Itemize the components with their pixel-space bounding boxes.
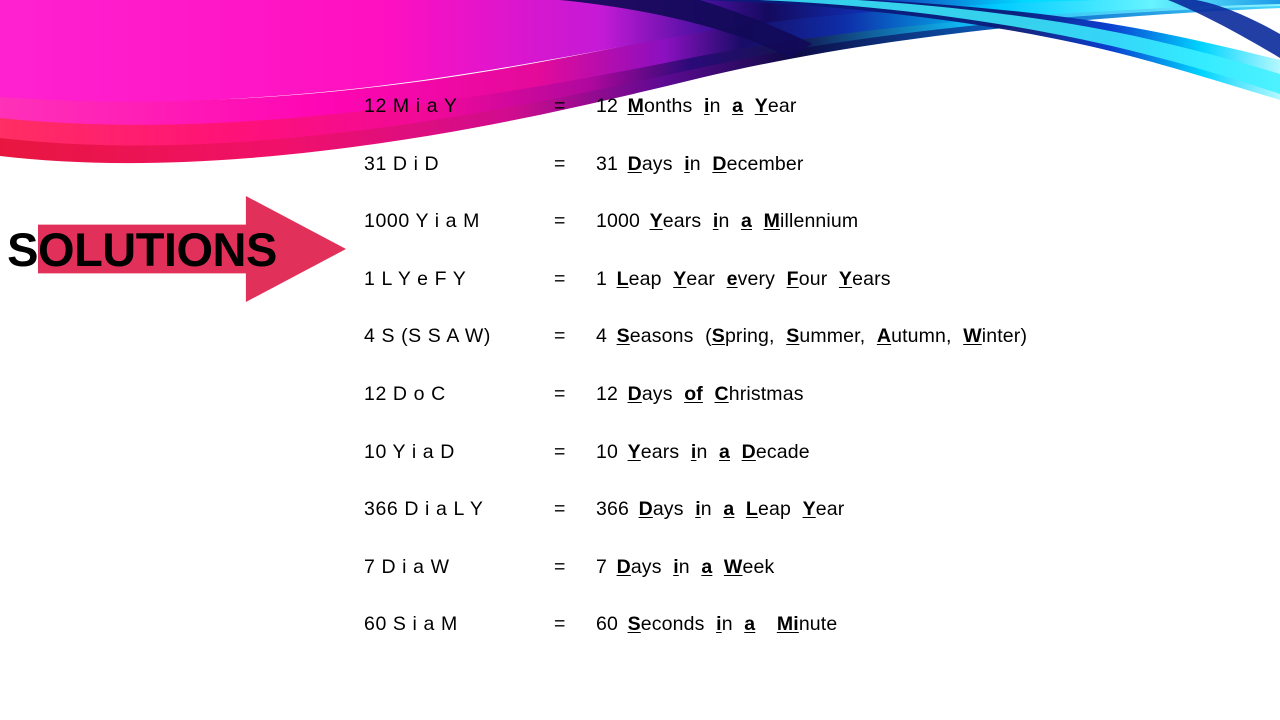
solutions-list: 12 M i a Y=12 Months in a Year 31 D i D=… [364,91,1244,667]
word-initial: a [732,95,743,117]
equals-sign: = [554,91,596,121]
word-initial: a [723,498,734,520]
word-initial: Y [839,268,852,290]
expansion-number: 1000 [596,210,640,232]
solution-row: 60 S i a M=60 Seconds in a Minute [364,609,1244,667]
expansion-word: Four [787,268,828,290]
expansion-word: Christmas [714,383,803,405]
expansion-cell: 1 Leap Year every Four Years [596,264,1244,294]
word-remainder: ays [653,498,684,520]
expansion-word: (Spring, [705,325,775,347]
word-remainder: ays [642,153,673,175]
expansion-word: in [673,556,690,578]
word-initial: of [684,383,703,405]
wave-cyan-tail [700,0,1280,100]
expansion-number: 60 [596,613,618,635]
word-remainder: eap [758,498,791,520]
word-remainder: ears [641,441,680,463]
word-initial: Y [628,441,641,463]
equals-sign: = [554,494,596,524]
expansion-word: Days [628,153,673,175]
expansion-word: in [684,153,701,175]
word-initial: S [617,325,630,347]
solutions-arrow-banner: SOLUTIONS [38,196,346,302]
expansion-cell: 4 Seasons (Spring, Summer, Autumn, Winte… [596,321,1244,351]
expansion-word: a [723,498,734,520]
word-initial: F [787,268,799,290]
word-remainder: ears [852,268,891,290]
expansion-word: Winter) [963,325,1027,347]
wave-navy-streak [560,0,812,58]
solutions-label: SOLUTIONS [38,196,246,302]
expansion-word: in [691,441,708,463]
word-initial: D [628,383,642,405]
expansion-word: of [684,383,703,405]
word-initial: A [877,325,891,347]
word-initial: W [724,556,743,578]
word-remainder: econds [641,613,705,635]
equals-sign: = [554,379,596,409]
expansion-word: Minute [777,613,838,635]
equals-sign: = [554,437,596,467]
expansion-word: in [713,210,730,232]
solution-row: 10 Y i a D=10 Years in a Decade [364,437,1244,495]
expansion-word: a [744,613,755,635]
abbreviation-cell: 366 D i a L Y [364,494,554,524]
word-initial: S [786,325,799,347]
abbreviation-cell: 12 M i a Y [364,91,554,121]
abbreviation-cell: 10 Y i a D [364,437,554,467]
expansion-word: Millennium [764,210,859,232]
expansion-cell: 1000 Years in a Millennium [596,206,1244,236]
word-remainder: illennium [780,210,858,232]
expansion-word: December [712,153,803,175]
expansion-word: Leap [746,498,791,520]
word-remainder: n [679,556,690,578]
expansion-word: Years [839,268,891,290]
expansion-cell: 12 Days of Christmas [596,379,1244,409]
word-remainder: n [690,153,701,175]
wave-right-navy-band [1168,0,1280,58]
expansion-word: Year [673,268,715,290]
word-remainder: utumn, [891,325,952,347]
equals-sign: = [554,264,596,294]
solution-row: 1000 Y i a M=1000 Years in a Millennium [364,206,1244,264]
word-initial: a [744,613,755,635]
expansion-cell: 366 Days in a Leap Year [596,494,1244,524]
expansion-word: in [716,613,733,635]
word-initial: L [746,498,758,520]
expansion-word: a [701,556,712,578]
word-remainder: ays [631,556,662,578]
abbreviation-cell: 60 S i a M [364,609,554,639]
word-remainder: ear [686,268,715,290]
word-initial: Y [650,210,663,232]
wave-band-top [0,0,1280,102]
expansion-number: 1 [596,268,607,290]
word-remainder: onths [644,95,692,117]
expansion-word: in [695,498,712,520]
solution-row: 4 S (S S A W)=4 Seasons (Spring, Summer,… [364,321,1244,379]
solution-row: 1 L Y e F Y=1 Leap Year every Four Years [364,264,1244,322]
word-remainder: eek [742,556,774,578]
word-remainder: n [710,95,721,117]
word-remainder: ear [768,95,797,117]
word-initial: Y [803,498,816,520]
word-initial: M [628,95,644,117]
equals-sign: = [554,321,596,351]
expansion-word: Decade [742,441,810,463]
abbreviation-cell: 31 D i D [364,149,554,179]
word-remainder: ecade [756,441,810,463]
abbreviation-cell: 4 S (S S A W) [364,321,554,351]
abbreviation-cell: 7 D i a W [364,552,554,582]
word-initial: M [764,210,780,232]
expansion-word: Years [628,441,680,463]
word-prefix: ( [705,325,712,347]
expansion-cell: 60 Seconds in a Minute [596,609,1244,639]
expansion-word: Summer, [786,325,865,347]
expansion-word: Days [639,498,684,520]
solution-row: 31 D i D=31 Days in December [364,149,1244,207]
word-remainder: inter) [982,325,1027,347]
expansion-cell: 31 Days in December [596,149,1244,179]
abbreviation-cell: 12 D o C [364,379,554,409]
word-remainder: n [701,498,712,520]
expansion-word: Years [650,210,702,232]
expansion-number: 366 [596,498,629,520]
word-remainder: n [718,210,729,232]
word-initial: a [719,441,730,463]
expansion-word: Days [617,556,662,578]
expansion-word: Seconds [628,613,705,635]
equals-sign: = [554,552,596,582]
word-initial: D [742,441,756,463]
word-initial: e [727,268,738,290]
word-remainder: ears [663,210,702,232]
word-initial: Y [673,268,686,290]
expansion-word: Seasons [617,325,694,347]
expansion-word: every [727,268,775,290]
solution-row: 366 D i a L Y=366 Days in a Leap Year [364,494,1244,552]
expansion-word: Autumn, [877,325,952,347]
solution-row: 12 D o C=12 Days of Christmas [364,379,1244,437]
abbreviation-cell: 1000 Y i a M [364,206,554,236]
expansion-word: a [732,95,743,117]
word-remainder: nute [799,613,838,635]
equals-sign: = [554,609,596,639]
word-remainder: our [799,268,828,290]
word-initial: Mi [777,613,799,635]
expansion-number: 31 [596,153,618,175]
expansion-word: Leap [617,268,662,290]
expansion-number: 12 [596,383,618,405]
expansion-word: Days [628,383,673,405]
wave-cyan-highlight [760,0,1280,94]
wave-white-sliver [0,0,1280,101]
word-remainder: n [722,613,733,635]
word-remainder: hristmas [729,383,804,405]
equals-sign: = [554,206,596,236]
word-initial: D [639,498,653,520]
expansion-word: in [704,95,721,117]
expansion-cell: 12 Months in a Year [596,91,1244,121]
expansion-word: Year [755,95,797,117]
word-initial: S [712,325,725,347]
word-initial: L [617,268,629,290]
word-initial: W [963,325,982,347]
word-initial: D [712,153,726,175]
expansion-word: Months [628,95,693,117]
word-remainder: n [696,441,707,463]
word-initial: a [741,210,752,232]
expansion-word: a [741,210,752,232]
expansion-number: 4 [596,325,607,347]
expansion-word: a [719,441,730,463]
word-remainder: ecember [727,153,804,175]
expansion-cell: 7 Days in a Week [596,552,1244,582]
equals-sign: = [554,149,596,179]
word-initial: S [628,613,641,635]
expansion-cell: 10 Years in a Decade [596,437,1244,467]
word-remainder: eap [629,268,662,290]
expansion-number: 12 [596,95,618,117]
word-remainder: pring, [725,325,775,347]
word-initial: D [617,556,631,578]
abbreviation-cell: 1 L Y e F Y [364,264,554,294]
word-remainder: easons [630,325,694,347]
word-remainder: very [738,268,775,290]
word-initial: C [714,383,728,405]
expansion-number: 10 [596,441,618,463]
expansion-word: Week [724,556,774,578]
word-remainder: ays [642,383,673,405]
expansion-word: Year [803,498,845,520]
word-initial: D [628,153,642,175]
solution-row: 12 M i a Y=12 Months in a Year [364,91,1244,149]
solution-row: 7 D i a W=7 Days in a Week [364,552,1244,610]
word-initial: a [701,556,712,578]
word-remainder: ear [816,498,845,520]
word-remainder: ummer, [799,325,865,347]
word-initial: Y [755,95,768,117]
expansion-number: 7 [596,556,607,578]
